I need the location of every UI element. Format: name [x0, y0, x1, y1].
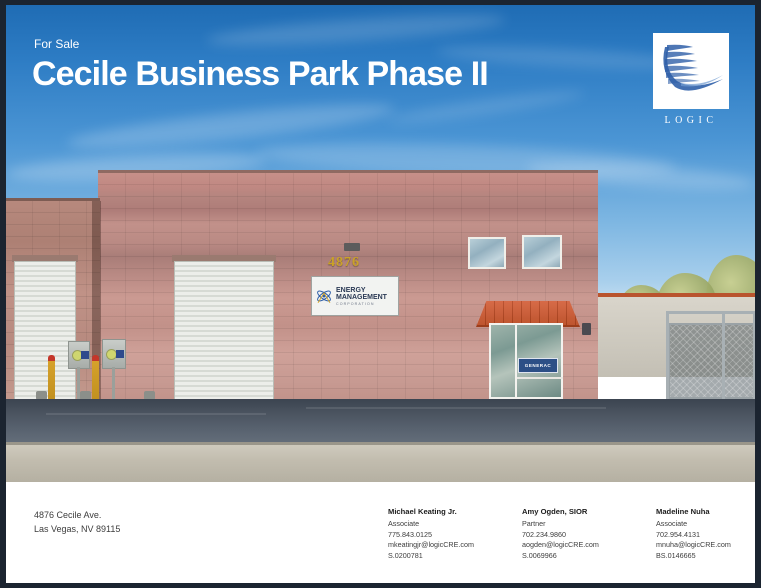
- tenant-sign-line2: MANAGEMENT: [336, 294, 387, 301]
- contacts-list: Michael Keating Jr. Associate 775.843.01…: [388, 507, 748, 561]
- contact-email[interactable]: aogden@logicCRE.com: [522, 540, 614, 551]
- contact-email[interactable]: mkeatingjr@logicCRE.com: [388, 540, 480, 551]
- contact-title: Associate: [656, 519, 748, 530]
- wall-light-fixture: [344, 243, 360, 251]
- contact-title: Partner: [522, 519, 614, 530]
- contact-license: S.0069966: [522, 551, 614, 562]
- fence-post: [753, 311, 755, 401]
- door-sign-text: GENERAC: [525, 363, 551, 368]
- address-street: 4876 Cecile Ave.: [34, 508, 120, 522]
- electrical-wall-box: [582, 323, 591, 335]
- contact-card: Amy Ogden, SIOR Partner 702.234.9860 aog…: [522, 507, 614, 561]
- facade-window: [522, 235, 562, 269]
- overhead-rollup-door: [174, 261, 274, 405]
- contact-card: Michael Keating Jr. Associate 775.843.01…: [388, 507, 480, 561]
- address-city-state-zip: Las Vegas, NV 89115: [34, 522, 120, 536]
- tenant-sign-line1: ENERGY: [336, 287, 387, 294]
- contact-name: Madeline Nuha: [656, 507, 748, 516]
- utility-meter: [68, 341, 90, 369]
- flyer-sheet: 4876 ENERGY MANAGEMENT CORPORATION: [6, 5, 755, 583]
- contact-phone[interactable]: 702.234.9860: [522, 530, 614, 541]
- bollard: [92, 357, 99, 401]
- fence-post: [666, 311, 669, 401]
- asphalt-streak: [46, 413, 266, 415]
- energy-management-atom-icon: [315, 286, 333, 306]
- fence-top-rail: [666, 311, 755, 314]
- concrete-apron: [6, 445, 755, 482]
- logic-logo-mark: [653, 33, 729, 109]
- utility-meter: [102, 339, 126, 369]
- contact-phone[interactable]: 775.843.0125: [388, 530, 480, 541]
- contact-license: S.0200781: [388, 551, 480, 562]
- overhead-rollup-door: [14, 261, 76, 405]
- hero-header: For Sale Cecile Business Park Phase II: [6, 5, 755, 155]
- conduit: [112, 367, 115, 399]
- meter-label: [116, 350, 124, 358]
- listing-type-label: For Sale: [34, 37, 79, 51]
- contact-name: Amy Ogden, SIOR: [522, 507, 614, 516]
- tenant-sign-line3: CORPORATION: [336, 302, 387, 306]
- contact-license: BS.0146665: [656, 551, 748, 562]
- logic-logo: LOGIC: [653, 33, 729, 133]
- contact-card: Madeline Nuha Associate 702.954.4131 mnu…: [656, 507, 748, 561]
- property-address-block: 4876 Cecile Ave. Las Vegas, NV 89115: [34, 508, 120, 536]
- property-photo: 4876 ENERGY MANAGEMENT CORPORATION: [6, 5, 755, 482]
- contact-title: Associate: [388, 519, 480, 530]
- door-sign: GENERAC: [518, 358, 558, 373]
- building-address-numerals: 4876: [328, 255, 360, 271]
- flyer-page: 4876 ENERGY MANAGEMENT CORPORATION: [0, 0, 761, 588]
- facade-window: [468, 237, 506, 269]
- logic-swoosh-icon: [653, 33, 729, 109]
- flyer-footer: 4876 Cecile Ave. Las Vegas, NV 89115 Mic…: [6, 482, 755, 583]
- tenant-sign: ENERGY MANAGEMENT CORPORATION: [311, 276, 399, 316]
- entry-awning-ribs: [476, 301, 580, 325]
- contact-name: Michael Keating Jr.: [388, 507, 480, 516]
- asphalt-streak: [306, 407, 606, 409]
- bollard-cap: [92, 355, 99, 361]
- page-title: Cecile Business Park Phase II: [32, 55, 488, 94]
- contact-phone[interactable]: 702.954.4131: [656, 530, 748, 541]
- contact-email[interactable]: mnuha@logicCRE.com: [656, 540, 748, 551]
- bollard: [48, 357, 55, 401]
- fence-post: [722, 311, 725, 401]
- door-rail: [517, 377, 563, 379]
- chain-link-gate: [668, 323, 755, 399]
- meter-label: [81, 351, 89, 359]
- bollard-cap: [48, 355, 55, 361]
- door-mullion: [515, 323, 517, 399]
- logic-wordmark: LOGIC: [653, 115, 729, 126]
